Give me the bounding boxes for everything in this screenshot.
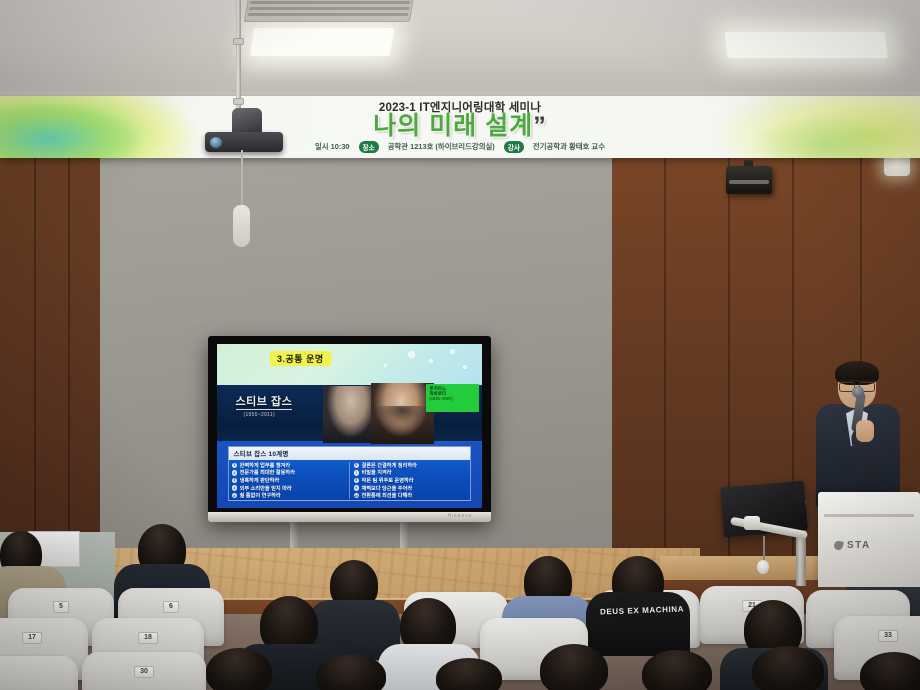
presentation-display: 3.공통 운명 스티브 잡스 (1955~2011) 루치아노 파바로티 (19…	[208, 336, 491, 520]
seat-number-badge: 6	[163, 601, 179, 613]
list-item: 7 비밀을 지켜라	[354, 469, 468, 476]
list-item: 3 냉혹하게 판단하라	[232, 477, 346, 484]
presentation-slide: 3.공통 운명 스티브 잡스 (1955~2011) 루치아노 파바로티 (19…	[217, 344, 482, 508]
seminar-hall-photo: 2023-1 IT엔지니어링대학 세미나 나의 미래 설계” 일시 10:30 …	[0, 0, 920, 690]
slide-decor-bubble	[429, 359, 433, 363]
hanging-microphone	[233, 205, 250, 247]
display-brand-label: Hisense	[447, 513, 472, 519]
list-item-number: 8	[354, 478, 360, 484]
slide-decor-bubble	[408, 351, 415, 358]
auditorium-seat[interactable]	[0, 656, 78, 690]
list-item-number: 4	[232, 485, 238, 491]
slide-list-header: 스티브 잡스 10계명	[229, 447, 471, 460]
seat-number-badge: 18	[138, 632, 158, 644]
list-item-label: 채찍보다 당근을 주어라	[362, 485, 413, 492]
list-item-label: 쉴 틈없이 연구하라	[240, 492, 281, 499]
seat-number-badge: 17	[22, 632, 42, 644]
list-item: 10 전환통에 최선을 다해라	[354, 492, 468, 499]
seat-number-badge: 33	[878, 630, 898, 642]
audience-head	[316, 654, 386, 690]
list-item: 8 작은 팀 위주로 운영하라	[354, 477, 468, 484]
slide-list-left-column: 1 완벽하게 업무를 챙겨라 2 전문가를 최대한 활용하라 3 냉혹하게 판단…	[232, 462, 350, 500]
list-item-label: 비밀을 지켜라	[362, 469, 392, 476]
audience-head	[642, 650, 712, 690]
slide-pavarotti-dates: (1935~2007)	[429, 397, 477, 402]
list-item-label: 냉혹하게 판단하라	[240, 477, 280, 484]
banner-sub-place: 공학관 1213호 (하이브리드강의실)	[388, 141, 495, 152]
monitor-cable	[763, 536, 765, 562]
banner-sub-place-tag: 장소	[359, 141, 379, 153]
list-item: 6 결론은 간결하게 정리하라	[354, 462, 468, 469]
list-item: 1 완벽하게 업무를 챙겨라	[232, 462, 346, 469]
banner-title-quote: ”	[533, 112, 547, 140]
list-item-label: 완벽하게 업무를 챙겨라	[240, 462, 291, 469]
audience-torso	[586, 592, 690, 656]
list-item-label: 전환통에 최선을 다해라	[362, 492, 413, 499]
slide-list-header-text: 스티브 잡스 10계명	[229, 448, 289, 458]
list-item-number: 3	[232, 478, 238, 484]
ceiling-light-panel	[250, 28, 394, 56]
monitor-arm-joint	[744, 516, 760, 530]
lectern: STA	[818, 492, 920, 587]
display-screen: 3.공통 운명 스티브 잡스 (1955~2011) 루치아노 파바로티 (19…	[217, 344, 482, 508]
list-item-label: 결론은 간결하게 정리하라	[362, 462, 417, 469]
banner-sub-speaker-tag: 강사	[504, 141, 524, 153]
slide-pavarotti-label: 루치아노 파바로티 (1935~2007)	[426, 384, 479, 412]
projector-pole-joint	[233, 38, 244, 45]
banner-title: 나의 미래 설계”	[373, 114, 546, 140]
seminar-banner: 2023-1 IT엔지니어링대학 세미나 나의 미래 설계” 일시 10:30 …	[0, 96, 920, 158]
list-item: 5 쉴 틈없이 연구하라	[232, 492, 346, 499]
slide-list-columns: 1 완벽하게 업무를 챙겨라 2 전문가를 최대한 활용하라 3 냉혹하게 판단…	[229, 460, 471, 501]
slide-jobs-dates: (1955~2011)	[244, 412, 275, 418]
banner-title-text: 나의 미래 설계	[373, 112, 533, 140]
lectern-logo-mark-icon	[833, 540, 844, 551]
list-item-number: 10	[354, 493, 360, 499]
seat-number-badge: 30	[134, 666, 154, 678]
slide-list-right-column: 6 결론은 간결하게 정리하라 7 비밀을 지켜라 8 작은 팀 위주로 운영하…	[350, 462, 468, 500]
list-item-number: 6	[354, 463, 360, 469]
ceiling-light-panel	[724, 32, 887, 58]
ceiling-air-vent	[244, 0, 415, 22]
wall-mounted-speaker	[726, 166, 772, 194]
hanging-microphone-cable	[241, 150, 243, 210]
projector-pole-joint	[233, 98, 244, 105]
slide-jobs-name-text: 스티브 잡스	[236, 396, 293, 410]
list-item: 9 채찍보다 당근을 주어라	[354, 485, 468, 492]
slide-title: 3.공통 운명	[270, 351, 331, 366]
list-item: 4 외부 소리만을 믿지 마라	[232, 485, 346, 492]
slide-pavarotti-beard	[371, 406, 435, 427]
banner-subline: 일시 10:30 장소 공학관 1213호 (하이브리드강의실) 강사 전기공학…	[315, 141, 605, 153]
audience-head	[752, 646, 824, 690]
lectern-logo-text: STA	[847, 540, 871, 551]
list-item-number: 2	[232, 470, 238, 476]
audience-head	[206, 648, 272, 690]
list-item-number: 7	[354, 470, 360, 476]
slide-decor-bubble	[384, 364, 387, 367]
slide-commandments-box: 스티브 잡스 10계명 1 완벽하게 업무를 챙겨라 2 전문가를 최대한 활용…	[228, 446, 472, 502]
lectern-seam	[824, 514, 914, 517]
list-item-number: 9	[354, 485, 360, 491]
list-item-number: 5	[232, 493, 238, 499]
slide-jobs-name: 스티브 잡스	[236, 393, 293, 409]
audience-head	[436, 658, 502, 690]
lectern-logo: STA	[834, 540, 871, 551]
seat-number-badge: 5	[53, 601, 69, 613]
list-item-label: 외부 소리만을 믿지 마라	[240, 485, 292, 492]
projector-lens-icon	[210, 137, 222, 148]
slide-header-band	[217, 344, 482, 387]
audience-head	[540, 644, 608, 690]
list-item-number: 1	[232, 463, 238, 469]
wood-panel-left	[0, 140, 100, 570]
list-item-label: 작은 팀 위주로 운영하라	[362, 477, 414, 484]
cable-weight	[757, 560, 769, 574]
banner-sub-speaker: 전기공학과 황태호 교수	[533, 141, 605, 152]
presenter-hand	[856, 420, 874, 442]
banner-sub-datetime: 일시 10:30	[315, 141, 350, 152]
list-item-label: 전문가를 최대한 활용하라	[240, 469, 295, 476]
list-item: 2 전문가를 최대한 활용하라	[232, 469, 346, 476]
